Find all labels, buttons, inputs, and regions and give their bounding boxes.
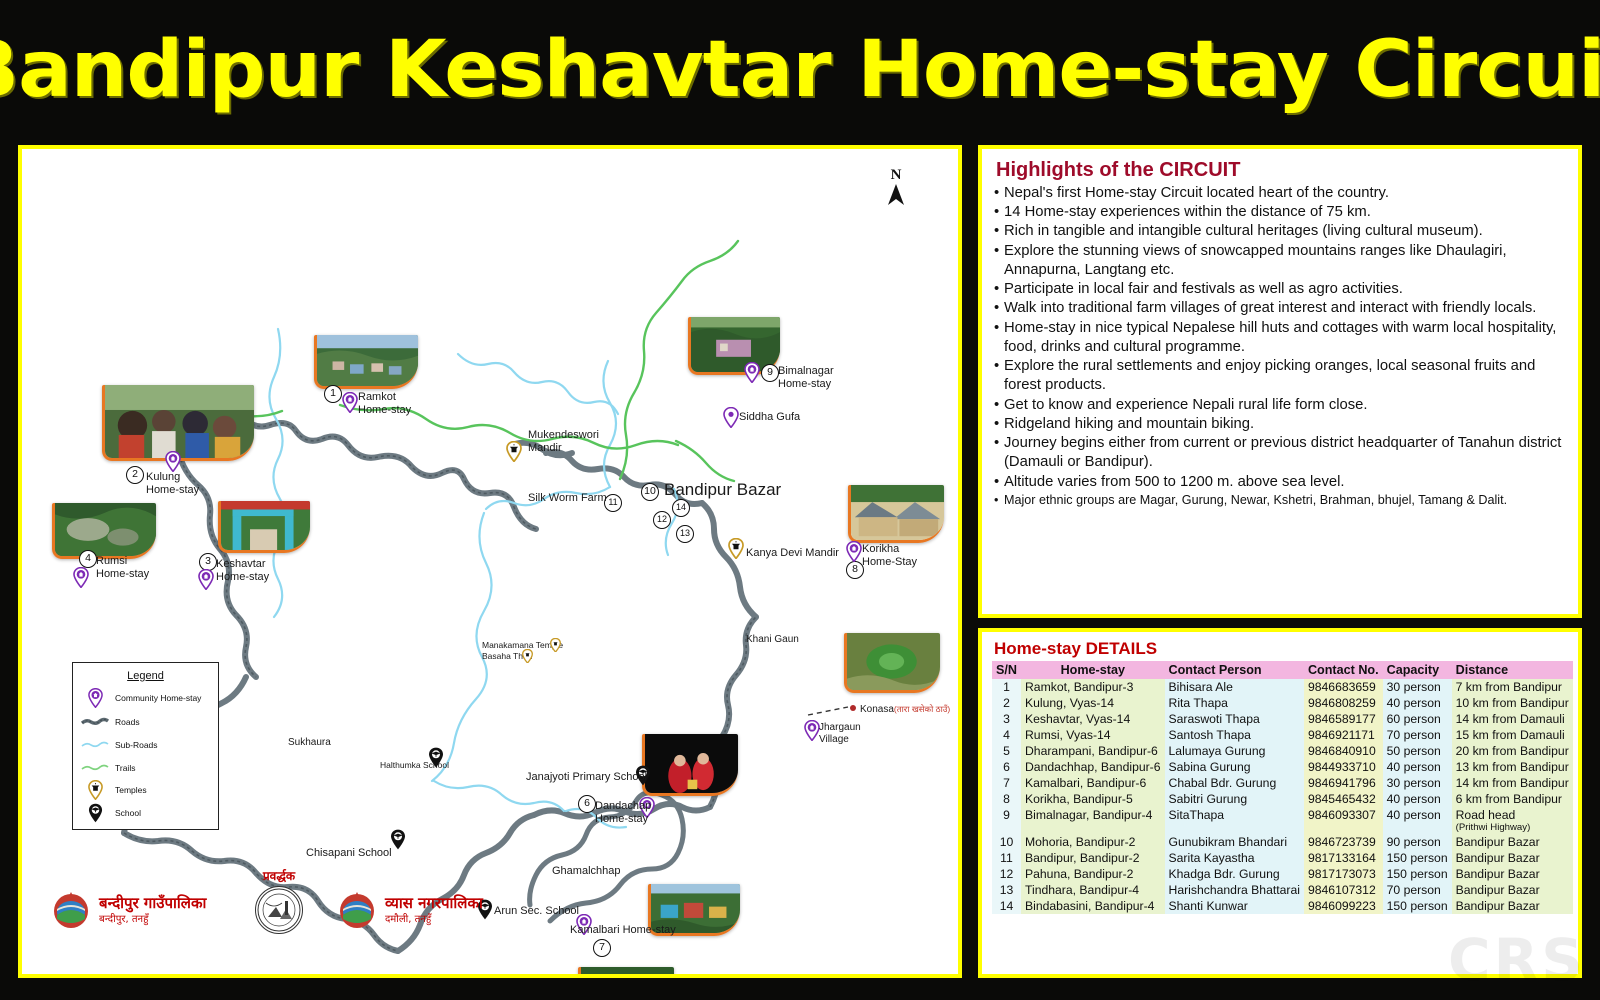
konasa-point-icon: [850, 705, 856, 711]
cell-sn: 2: [992, 695, 1021, 711]
cell-dist: 14 km from Bandipur: [1452, 775, 1573, 791]
cell-cn: 9846107312: [1304, 882, 1383, 898]
map-label-janajyoti-school: Janajyoti Primary School: [526, 771, 647, 784]
cell-cp: SitaThapa: [1165, 807, 1304, 834]
legend-label: Roads: [115, 717, 140, 727]
cell-sn: 1: [992, 679, 1021, 695]
table-row: 8Korikha, Bandipur-5Sabitri Gurung984546…: [992, 791, 1573, 807]
bullet-icon: •: [994, 492, 1004, 508]
school-pin-icon: [81, 803, 109, 823]
cell-cap: 30 person: [1383, 679, 1452, 695]
home-stay-pin-icon[interactable]: [846, 541, 862, 562]
cell-sn: 6: [992, 759, 1021, 775]
legend-label: Sub-Roads: [115, 740, 158, 750]
title-bar: Bandipur Keshavtar Home-stay Circuit: [0, 0, 1600, 140]
highlight-item: •Rich in tangible and intangible cultura…: [994, 222, 1568, 241]
highlight-item: •Major ethnic groups are Magar, Gurung, …: [994, 492, 1568, 508]
cell-dist: 14 km from Damauli: [1452, 711, 1573, 727]
cell-sn: 13: [992, 882, 1021, 898]
cell-cap: 30 person: [1383, 775, 1452, 791]
highlight-item: •Journey begins either from current or p…: [994, 434, 1568, 472]
highlights-heading: Highlights of the CIRCUIT: [996, 159, 1568, 182]
home-stay-pin-icon: [81, 688, 109, 708]
cell-hs: Korikha, Bandipur-5: [1021, 791, 1165, 807]
highlight-item: •Ridgeland hiking and mountain biking.: [994, 415, 1568, 434]
legend-label: Community Home-stay: [115, 693, 201, 703]
temple-pin-icon[interactable]: [550, 638, 561, 652]
cell-dist: Bandipur Bazar: [1452, 850, 1573, 866]
table-row: 1Ramkot, Bandipur-3Bihisara Ale984668365…: [992, 679, 1573, 695]
temple-pin-icon[interactable]: [506, 441, 522, 462]
cell-cp: Sarita Kayastha: [1165, 850, 1304, 866]
home-stay-pin-icon[interactable]: [804, 720, 820, 741]
temple-pin-icon[interactable]: [728, 538, 744, 559]
highlight-text: Rich in tangible and intangible cultural…: [1004, 222, 1568, 241]
table-row: 13Tindhara, Bandipur-4Harishchandra Bhat…: [992, 882, 1573, 898]
details-panel: Home-stay DETAILS S/N Home-stay Contact …: [978, 628, 1582, 978]
cell-hs: Bindabasini, Bandipur-4: [1021, 898, 1165, 914]
map-number-9[interactable]: 9: [761, 364, 779, 382]
cell-cap: 50 person: [1383, 743, 1452, 759]
cell-cn: 9846723739: [1304, 834, 1383, 850]
highlight-text: Home-stay in nice typical Nepalese hill …: [1004, 319, 1568, 357]
highlight-text: Major ethnic groups are Magar, Gurung, N…: [1004, 492, 1568, 508]
cell-sn: 11: [992, 850, 1021, 866]
col-person: Contact Person: [1165, 661, 1304, 679]
cell-dist: Road head(Prithwi Highway): [1452, 807, 1573, 834]
map-label-ramkot: RamkotHome-stay: [358, 391, 411, 416]
cell-hs: Keshavtar, Vyas-14: [1021, 711, 1165, 727]
north-arrow: N: [886, 167, 906, 211]
table-row: 4Rumsi, Vyas-14Santosh Thapa984692117170…: [992, 727, 1573, 743]
map-canvas[interactable]: N 1 RamkotHome-stay 2 KulungHome-stay 3: [22, 149, 958, 974]
highlight-item: •Explore the stunning views of snowcappe…: [994, 242, 1568, 280]
cell-cp: Khadga Bdr. Gurung: [1165, 866, 1304, 882]
highlight-item: •Home-stay in nice typical Nepalese hill…: [994, 319, 1568, 357]
highlight-text: Explore the stunning views of snowcapped…: [1004, 242, 1568, 280]
map-number-1[interactable]: 1: [324, 385, 342, 403]
bullet-icon: •: [994, 184, 1004, 203]
legend-item-roads: Roads: [81, 712, 140, 732]
cell-cap: 150 person: [1383, 866, 1452, 882]
table-row: 9Bimalnagar, Bandipur-4SitaThapa98460933…: [992, 807, 1573, 834]
map-label-dandachap: DandachapHome-stay: [595, 800, 651, 825]
cell-sn: 12: [992, 866, 1021, 882]
nepal-emblem-icon: [336, 889, 378, 931]
cell-cp: Bihisara Ale: [1165, 679, 1304, 695]
table-header-row: S/N Home-stay Contact Person Contact No.…: [992, 661, 1573, 679]
map-label-bandipur-bazar: Bandipur Bazar: [664, 480, 781, 500]
table-row: 6Dandachhap, Bandipur-6Sabina Gurung9844…: [992, 759, 1573, 775]
home-stay-pin-icon[interactable]: [73, 567, 89, 588]
details-heading: Home-stay DETAILS: [994, 639, 1570, 659]
cell-cn: 9846840910: [1304, 743, 1383, 759]
photo-ramkot: [314, 335, 418, 389]
cell-sn: 10: [992, 834, 1021, 850]
cell-sn: 4: [992, 727, 1021, 743]
cell-hs: Bimalnagar, Bandipur-4: [1021, 807, 1165, 834]
photo-konasa: [844, 633, 940, 693]
bullet-icon: •: [994, 222, 1004, 241]
cell-hs: Dharampani, Bandipur-6: [1021, 743, 1165, 759]
cell-dist: Bandipur Bazar: [1452, 898, 1573, 914]
highlights-panel: Highlights of the CIRCUIT •Nepal's first…: [978, 145, 1582, 618]
photo-dharampani: [578, 967, 674, 974]
cell-sn: 14: [992, 898, 1021, 914]
table-row: 5Dharampani, Bandipur-6Lalumaya Gurung98…: [992, 743, 1573, 759]
home-stay-pin-icon[interactable]: [198, 569, 214, 590]
cell-sn: 8: [992, 791, 1021, 807]
cell-hs: Mohoria, Bandipur-2: [1021, 834, 1165, 850]
bullet-icon: •: [994, 299, 1004, 318]
home-stay-pin-icon[interactable]: [342, 392, 358, 413]
promoter-seal-icon: [255, 886, 303, 934]
cell-cap: 60 person: [1383, 711, 1452, 727]
legend-label: School: [115, 808, 141, 818]
table-row: 14Bindabasini, Bandipur-4Shanti Kunwar98…: [992, 898, 1573, 914]
highlight-text: Participate in local fair and festivals …: [1004, 280, 1568, 299]
poster-root: Bandipur Keshavtar Home-stay Circuit: [0, 0, 1600, 1000]
visit-bandipur-logo: Visit Bandipur Year 2025 Beautiful, Natu…: [767, 964, 958, 974]
highlight-text: Altitude varies from 500 to 1200 m. abov…: [1004, 473, 1568, 492]
cell-hs: Rumsi, Vyas-14: [1021, 727, 1165, 743]
map-label-kamalbari: Kamalbari Home-stay: [570, 924, 676, 937]
highlight-item: •Get to know and experience Nepali rural…: [994, 396, 1568, 415]
table-row: 10Mohoria, Bandipur-2Gunubikram Bhandari…: [992, 834, 1573, 850]
col-phone: Contact No.: [1304, 661, 1383, 679]
cell-cn: 9846099223: [1304, 898, 1383, 914]
bullet-icon: •: [994, 473, 1004, 492]
municipality-sub: बन्दीपुर, तनहुँ: [99, 911, 206, 925]
siddha-gufa-pin-icon[interactable]: [723, 407, 739, 428]
cell-cn: 9844933710: [1304, 759, 1383, 775]
map-label-siddha-gufa: Siddha Gufa: [739, 411, 800, 424]
road-line-icon: [81, 717, 109, 727]
school-pin-icon[interactable]: [390, 829, 406, 850]
photo-keshavtar: [218, 501, 310, 553]
cell-dist: 6 km from Bandipur: [1452, 791, 1573, 807]
cell-cn: 9846921171: [1304, 727, 1383, 743]
cell-cap: 40 person: [1383, 807, 1452, 834]
legend-label: Trails: [115, 763, 135, 773]
photo-dandachap: [642, 734, 738, 796]
map-label-jhargaun: JhargaunVillage: [819, 722, 861, 745]
highlight-text: 14 Home-stay experiences within the dist…: [1004, 203, 1568, 222]
highlight-item: •Altitude varies from 500 to 1200 m. abo…: [994, 473, 1568, 492]
map-number-4[interactable]: 4: [79, 550, 97, 568]
cell-cp: Gunubikram Bhandari: [1165, 834, 1304, 850]
cell-sn: 3: [992, 711, 1021, 727]
promoter-label: प्रवर्द्धक: [244, 867, 314, 884]
cell-distance-sub: (Prithwi Highway): [1456, 822, 1569, 833]
photo-kulung: [102, 385, 254, 461]
highlight-item: •Walk into traditional farm villages of …: [994, 299, 1568, 318]
subroad-line-icon: [81, 740, 109, 750]
map-number-7[interactable]: 7: [593, 939, 611, 957]
highlight-text: Ridgeland hiking and mountain biking.: [1004, 415, 1568, 434]
bullet-icon: •: [994, 203, 1004, 222]
cell-cn: 9817133164: [1304, 850, 1383, 866]
bullet-icon: •: [994, 415, 1004, 434]
highlight-item: •14 Home-stay experiences within the dis…: [994, 203, 1568, 222]
promoter-block: प्रवर्द्धक: [244, 867, 314, 934]
table-row: 12Pahuna, Bandipur-2Khadga Bdr. Gurung98…: [992, 866, 1573, 882]
highlight-text: Explore the rural settlements and enjoy …: [1004, 357, 1568, 395]
trail-line-icon: [81, 763, 109, 773]
cell-cp: Santosh Thapa: [1165, 727, 1304, 743]
cell-sn: 7: [992, 775, 1021, 791]
cell-cn: 9846808259: [1304, 695, 1383, 711]
nepal-emblem-icon: [50, 889, 92, 931]
map-number-11[interactable]: 11: [604, 494, 622, 512]
map-number-10[interactable]: 10: [641, 483, 659, 501]
logo-vyas-municipality: व्यास नगरपालिका दमौली, तनहुँ: [336, 889, 483, 931]
table-row: 3Keshavtar, Vyas-14Saraswoti Thapa984658…: [992, 711, 1573, 727]
cell-cn: 9817173073: [1304, 866, 1383, 882]
legend-item-sub-roads: Sub-Roads: [81, 735, 158, 755]
legend-item-home-stay: Community Home-stay: [81, 688, 201, 708]
cell-dist: 10 km from Bandipur: [1452, 695, 1573, 711]
north-label: N: [886, 167, 906, 184]
map-label-bimalnagar: BimalnagarHome-stay: [778, 365, 834, 390]
cell-cap: 40 person: [1383, 759, 1452, 775]
legend-item-temples: Temples: [81, 780, 147, 800]
cell-hs: Tindhara, Bandipur-4: [1021, 882, 1165, 898]
map-label-rumsi: RumsiHome-stay: [96, 555, 149, 580]
cell-dist: Bandipur Bazar: [1452, 866, 1573, 882]
highlights-list: •Nepal's first Home-stay Circuit located…: [994, 184, 1568, 508]
highlight-item: •Nepal's first Home-stay Circuit located…: [994, 184, 1568, 203]
map-number-13[interactable]: 13: [676, 525, 694, 543]
home-stay-table: S/N Home-stay Contact Person Contact No.…: [992, 661, 1573, 914]
table-body: 1Ramkot, Bandipur-3Bihisara Ale984668365…: [992, 679, 1573, 914]
legend-item-trails: Trails: [81, 758, 135, 778]
cell-dist: Bandipur Bazar: [1452, 834, 1573, 850]
bullet-icon: •: [994, 319, 1004, 357]
map-number-6[interactable]: 6: [578, 795, 596, 813]
map-label-silk-worm-farm: Silk Worm Farm: [528, 492, 607, 505]
legend-label: Temples: [115, 785, 147, 795]
highlight-text: Walk into traditional farm villages of g…: [1004, 299, 1568, 318]
bullet-icon: •: [994, 242, 1004, 280]
map-label-korikha: KorikhaHome-Stay: [862, 543, 917, 568]
cell-cap: 70 person: [1383, 727, 1452, 743]
table-row: 11Bandipur, Bandipur-2Sarita Kayastha981…: [992, 850, 1573, 866]
table-row: 7Kamalbari, Bandipur-6Chabal Bdr. Gurung…: [992, 775, 1573, 791]
cell-dist: Bandipur Bazar: [1452, 882, 1573, 898]
map-label-keshavtar: KeshavtarHome-stay: [216, 558, 269, 583]
cell-cap: 150 person: [1383, 898, 1452, 914]
cell-dist: 7 km from Bandipur: [1452, 679, 1573, 695]
map-label-ghamalchhap: Ghamalchhap: [552, 865, 621, 878]
cell-hs: Bandipur, Bandipur-2: [1021, 850, 1165, 866]
cell-cn: 9846683659: [1304, 679, 1383, 695]
cell-cp: Shanti Kunwar: [1165, 898, 1304, 914]
cell-dist: 15 km from Damauli: [1452, 727, 1573, 743]
cell-dist: 13 km from Bandipur: [1452, 759, 1573, 775]
map-label-halthumka-school: Halthumka School: [380, 761, 449, 771]
map-label-kulung: KulungHome-stay: [146, 471, 199, 496]
page-title: Bandipur Keshavtar Home-stay Circuit: [0, 25, 1600, 115]
cell-cap: 150 person: [1383, 850, 1452, 866]
cell-cp: Lalumaya Gurung: [1165, 743, 1304, 759]
cell-hs: Dandachhap, Bandipur-6: [1021, 759, 1165, 775]
home-stay-pin-icon[interactable]: [744, 362, 760, 383]
cell-cap: 90 person: [1383, 834, 1452, 850]
table-row: 2Kulung, Vyas-14Rita Thapa984680825940 p…: [992, 695, 1573, 711]
municipality-name: बन्दीपुर गाउँपालिका: [99, 895, 206, 912]
bullet-icon: •: [994, 280, 1004, 299]
bullet-icon: •: [994, 434, 1004, 472]
cell-hs: Kamalbari, Bandipur-6: [1021, 775, 1165, 791]
map-label-konasa: Konasa(तारा खसेको ठाउँ): [860, 704, 950, 716]
photo-rumsi: [52, 503, 156, 559]
cell-cp: Sabina Gurung: [1165, 759, 1304, 775]
bullet-icon: •: [994, 396, 1004, 415]
cell-cn: 9846941796: [1304, 775, 1383, 791]
map-vector-layer: [22, 149, 958, 974]
cell-cap: 40 person: [1383, 695, 1452, 711]
legend-title: Legend: [73, 670, 218, 682]
map-number-12[interactable]: 12: [653, 511, 671, 529]
cell-hs: Pahuna, Bandipur-2: [1021, 866, 1165, 882]
north-arrow-icon: [886, 184, 906, 206]
cell-cp: Saraswoti Thapa: [1165, 711, 1304, 727]
cell-hs: Kulung, Vyas-14: [1021, 695, 1165, 711]
cell-cp: Harishchandra Bhattarai: [1165, 882, 1304, 898]
bullet-icon: •: [994, 357, 1004, 395]
cell-cp: Sabitri Gurung: [1165, 791, 1304, 807]
cell-cp: Chabal Bdr. Gurung: [1165, 775, 1304, 791]
logo-bandipur-municipality: बन्दीपुर गाउँपालिका बन्दीपुर, तनहुँ: [50, 889, 206, 931]
temple-pin-icon[interactable]: [522, 649, 533, 663]
cell-cap: 40 person: [1383, 791, 1452, 807]
map-number-2[interactable]: 2: [126, 466, 144, 484]
col-capacity: Capacity: [1383, 661, 1452, 679]
highlight-item: •Explore the rural settlements and enjoy…: [994, 357, 1568, 395]
cell-sn: 9: [992, 807, 1021, 834]
cell-cap: 70 person: [1383, 882, 1452, 898]
home-stay-pin-icon[interactable]: [165, 451, 181, 472]
map-label-chisapani-school: Chisapani School: [306, 847, 392, 860]
legend: Legend Community Home-stay Roads: [72, 662, 219, 830]
map-label-khani-gaun: Khani Gaun: [746, 634, 799, 646]
col-sn: S/N: [992, 661, 1021, 679]
municipality-name: व्यास नगरपालिका: [385, 895, 483, 912]
col-homestay: Home-stay: [1021, 661, 1165, 679]
cell-cn: 9846093307: [1304, 807, 1383, 834]
highlight-text: Get to know and experience Nepali rural …: [1004, 396, 1568, 415]
map-panel[interactable]: N 1 RamkotHome-stay 2 KulungHome-stay 3: [18, 145, 962, 978]
highlight-text: Journey begins either from current or pr…: [1004, 434, 1568, 472]
map-label-sukhaura: Sukhaura: [288, 737, 331, 749]
cell-hs: Ramkot, Bandipur-3: [1021, 679, 1165, 695]
visit-logo-art: [767, 964, 958, 974]
map-label-mukendeswori: MukendesworiMandir: [528, 429, 599, 454]
highlight-item: •Participate in local fair and festivals…: [994, 280, 1568, 299]
temple-pin-icon: [81, 780, 109, 800]
highlight-text: Nepal's first Home-stay Circuit located …: [1004, 184, 1568, 203]
photo-korikha: [848, 485, 944, 543]
cell-cn: 9845465432: [1304, 791, 1383, 807]
cell-cn: 9846589177: [1304, 711, 1383, 727]
cell-dist: 20 km from Bandipur: [1452, 743, 1573, 759]
col-distance: Distance: [1452, 661, 1573, 679]
map-label-kanya-devi-mandir: Kanya Devi Mandir: [746, 547, 839, 560]
legend-item-school: School: [81, 803, 141, 823]
municipality-sub: दमौली, तनहुँ: [385, 911, 483, 925]
cell-cp: Rita Thapa: [1165, 695, 1304, 711]
map-number-14[interactable]: 14: [672, 499, 690, 517]
cell-sn: 5: [992, 743, 1021, 759]
map-label-arun-school: Arun Sec. School: [494, 905, 579, 918]
